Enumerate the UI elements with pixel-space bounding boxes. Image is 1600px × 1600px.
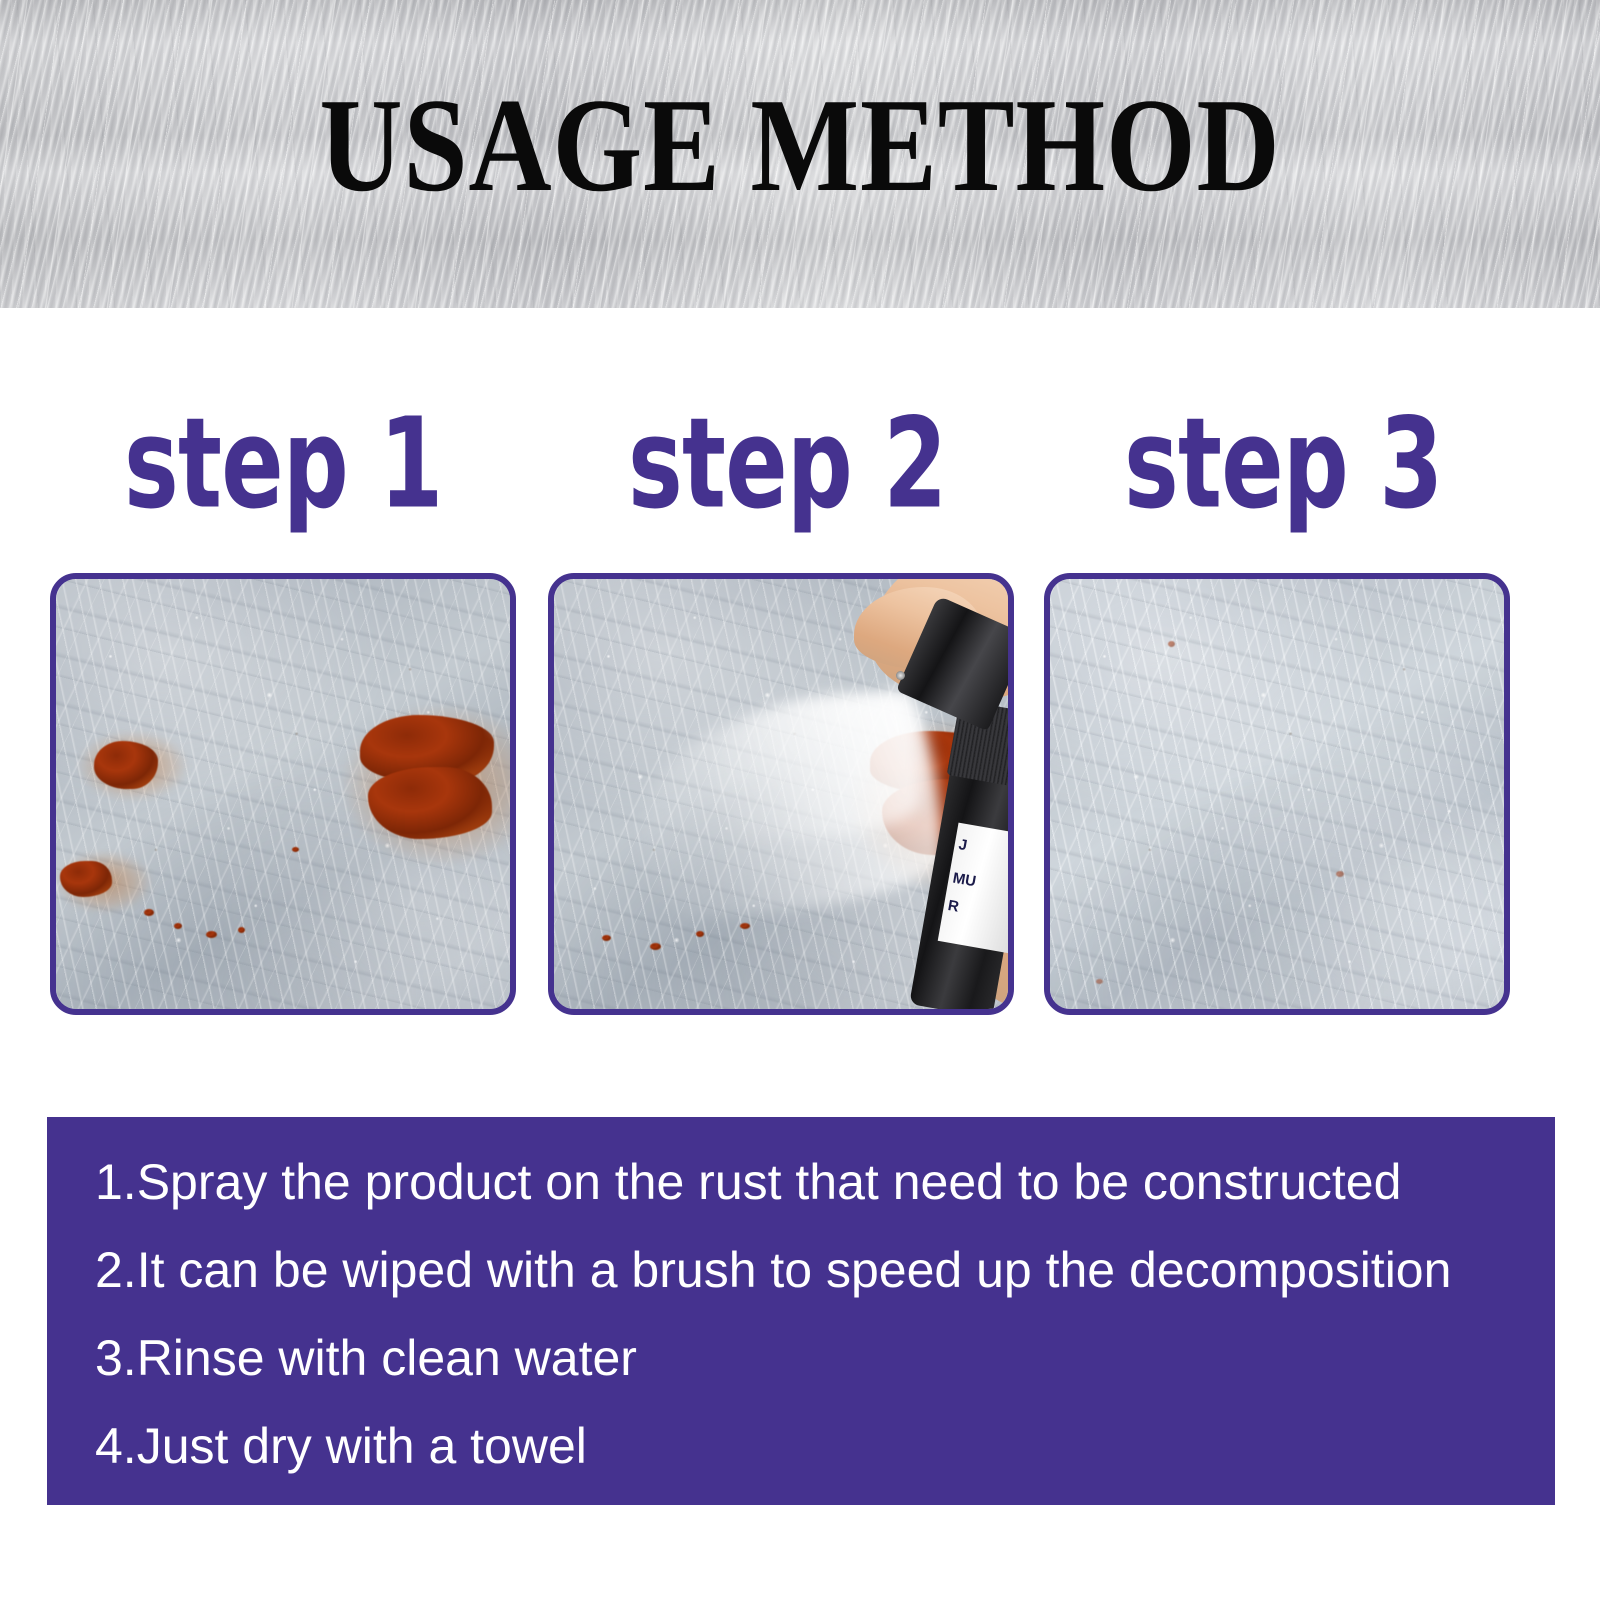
rust-patch-bottom-left bbox=[60, 861, 112, 897]
header-banner: USAGE METHOD bbox=[0, 0, 1600, 308]
step-label-3: step 3 bbox=[1124, 400, 1442, 525]
clean-metal-photo bbox=[1050, 579, 1504, 1009]
metal-speckle bbox=[1050, 579, 1504, 1009]
rust-speck bbox=[174, 923, 182, 929]
residual-speck bbox=[1336, 871, 1344, 877]
rusty-metal-photo bbox=[56, 579, 510, 1009]
instructions-list: 1.Spray the product on the rust that nee… bbox=[95, 1157, 1531, 1509]
step-image-3 bbox=[1044, 573, 1510, 1015]
step-label-1: step 1 bbox=[124, 400, 442, 525]
rust-speck bbox=[292, 847, 299, 852]
residual-speck bbox=[1168, 641, 1175, 647]
residual-speck bbox=[1096, 979, 1103, 984]
nozzle-orifice bbox=[896, 671, 905, 680]
step-image-2: J MU R bbox=[548, 573, 1014, 1015]
instruction-item-3: 3.Rinse with clean water bbox=[95, 1333, 1531, 1383]
rust-speck bbox=[602, 935, 611, 941]
instruction-item-1: 1.Spray the product on the rust that nee… bbox=[95, 1157, 1531, 1207]
rust-patch-small-left bbox=[94, 741, 158, 789]
instruction-item-2: 2.It can be wiped with a brush to speed … bbox=[95, 1245, 1531, 1295]
step-image-1 bbox=[50, 573, 516, 1015]
rust-speck bbox=[650, 943, 661, 950]
rust-patch-large-right-lower bbox=[368, 767, 492, 839]
page-title: USAGE METHOD bbox=[112, 78, 1488, 212]
spraying-photo: J MU R bbox=[554, 579, 1008, 1009]
instructions-panel: 1.Spray the product on the rust that nee… bbox=[47, 1117, 1555, 1505]
rust-speck bbox=[144, 909, 154, 916]
step-label-2: step 2 bbox=[628, 400, 946, 525]
bottle-label-line-2: MU bbox=[952, 871, 978, 890]
bottle-label-line-1: J bbox=[957, 837, 968, 853]
instruction-item-4: 4.Just dry with a towel bbox=[95, 1421, 1531, 1471]
rust-speck bbox=[696, 931, 704, 937]
rust-speck bbox=[238, 927, 245, 933]
rust-speck bbox=[206, 931, 217, 938]
rust-speck bbox=[740, 923, 750, 929]
bottle-label-line-3: R bbox=[947, 898, 960, 915]
